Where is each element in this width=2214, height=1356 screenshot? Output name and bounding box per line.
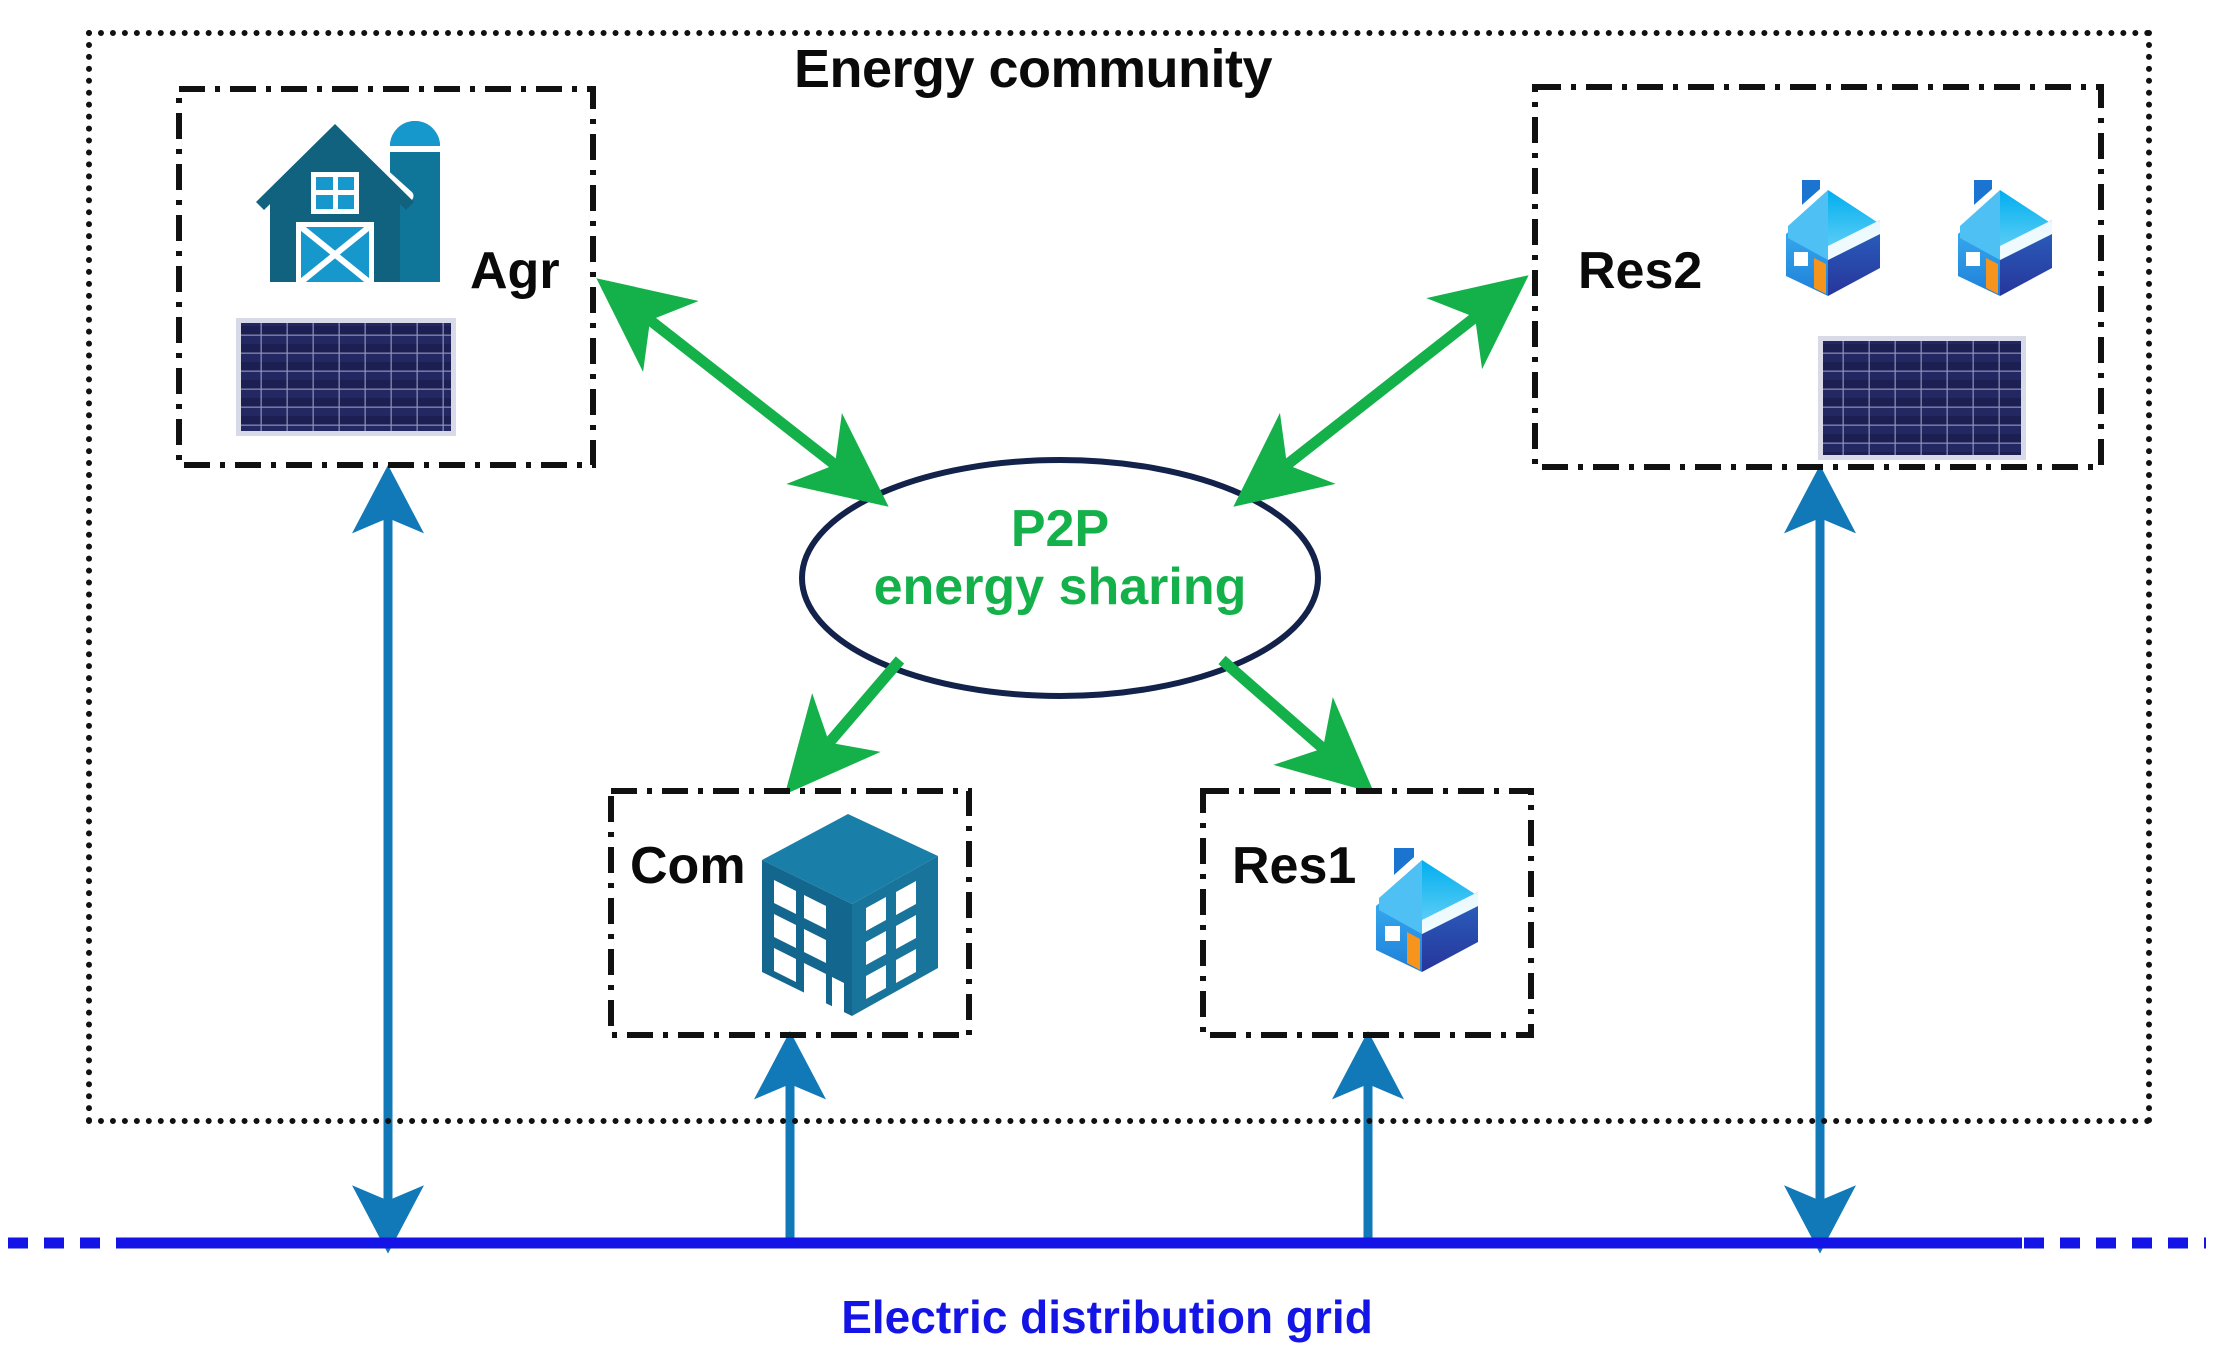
solar-panel-icon — [1818, 336, 2026, 460]
house-icon — [1768, 164, 1896, 306]
energy-community-diagram: Energy community Agr — [0, 0, 2214, 1356]
member-label-res1: Res1 — [1232, 840, 1356, 892]
barn-icon — [240, 110, 456, 290]
house-icon — [1358, 832, 1494, 982]
solar-panel-icon — [236, 318, 456, 436]
office-building-icon — [756, 804, 944, 1024]
member-label-res2: Res2 — [1578, 245, 1702, 297]
house-icon — [1940, 164, 2068, 306]
member-label-com: Com — [630, 840, 746, 892]
member-label-agr: Agr — [470, 245, 560, 297]
distribution-grid-label: Electric distribution grid — [0, 1290, 2214, 1344]
